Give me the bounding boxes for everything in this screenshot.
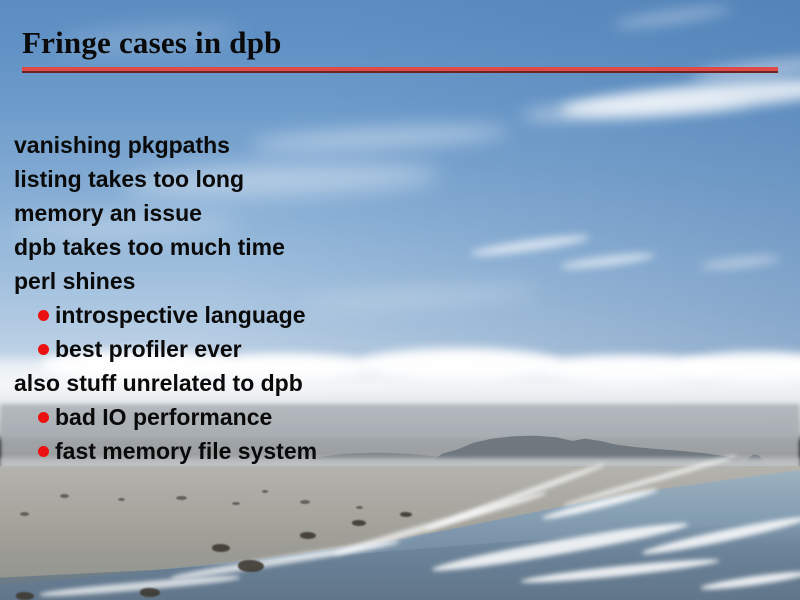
pebble	[262, 490, 268, 493]
bullet-item: vanishing pkgpaths	[0, 128, 800, 162]
bullet-item-label: perl shines	[14, 268, 135, 294]
pebble	[118, 498, 125, 501]
sea-rock	[352, 520, 366, 526]
bullet-item-label: best profiler ever	[55, 336, 242, 362]
sea-rock	[212, 544, 230, 552]
bullet-item: also stuff unrelated to dpb	[0, 366, 800, 400]
bullet-item: best profiler ever	[0, 332, 800, 366]
slide-title: Fringe cases in dpb	[22, 24, 282, 62]
bullet-item: dpb takes too much time	[0, 230, 800, 264]
bullet-item-label: vanishing pkgpaths	[14, 132, 230, 158]
pebble	[300, 500, 310, 504]
bullet-item-label: dpb takes too much time	[14, 234, 285, 260]
bullet-item-label: listing takes too long	[14, 166, 244, 192]
presentation-slide: Fringe cases in dpb vanishing pkgpathsli…	[0, 0, 800, 600]
pebble	[176, 496, 187, 500]
title-underline-rule	[22, 67, 778, 71]
bullet-item-label: bad IO performance	[55, 404, 272, 430]
bullet-item: introspective language	[0, 298, 800, 332]
pebble	[60, 494, 69, 498]
pebble	[20, 512, 29, 516]
red-bullet-dot-icon	[38, 412, 49, 423]
slide-bullet-list: vanishing pkgpathslisting takes too long…	[0, 128, 800, 468]
bullet-item: memory an issue	[0, 196, 800, 230]
bullet-item-label: fast memory file system	[55, 438, 317, 464]
sea-rock	[140, 588, 160, 597]
bullet-item-label: introspective language	[55, 302, 306, 328]
bullet-item: bad IO performance	[0, 400, 800, 434]
pebble	[356, 506, 363, 509]
bullet-item: fast memory file system	[0, 434, 800, 468]
sea-rock	[238, 560, 264, 572]
sea-rock	[400, 512, 412, 517]
bullet-item: perl shines	[0, 264, 800, 298]
red-bullet-dot-icon	[38, 310, 49, 321]
red-bullet-dot-icon	[38, 446, 49, 457]
pebble	[232, 502, 240, 505]
sea-rock	[16, 592, 34, 600]
red-bullet-dot-icon	[38, 344, 49, 355]
sea-rock	[300, 532, 316, 539]
bullet-item: listing takes too long	[0, 162, 800, 196]
bullet-item-label: memory an issue	[14, 200, 202, 226]
bullet-item-label: also stuff unrelated to dpb	[14, 370, 303, 396]
